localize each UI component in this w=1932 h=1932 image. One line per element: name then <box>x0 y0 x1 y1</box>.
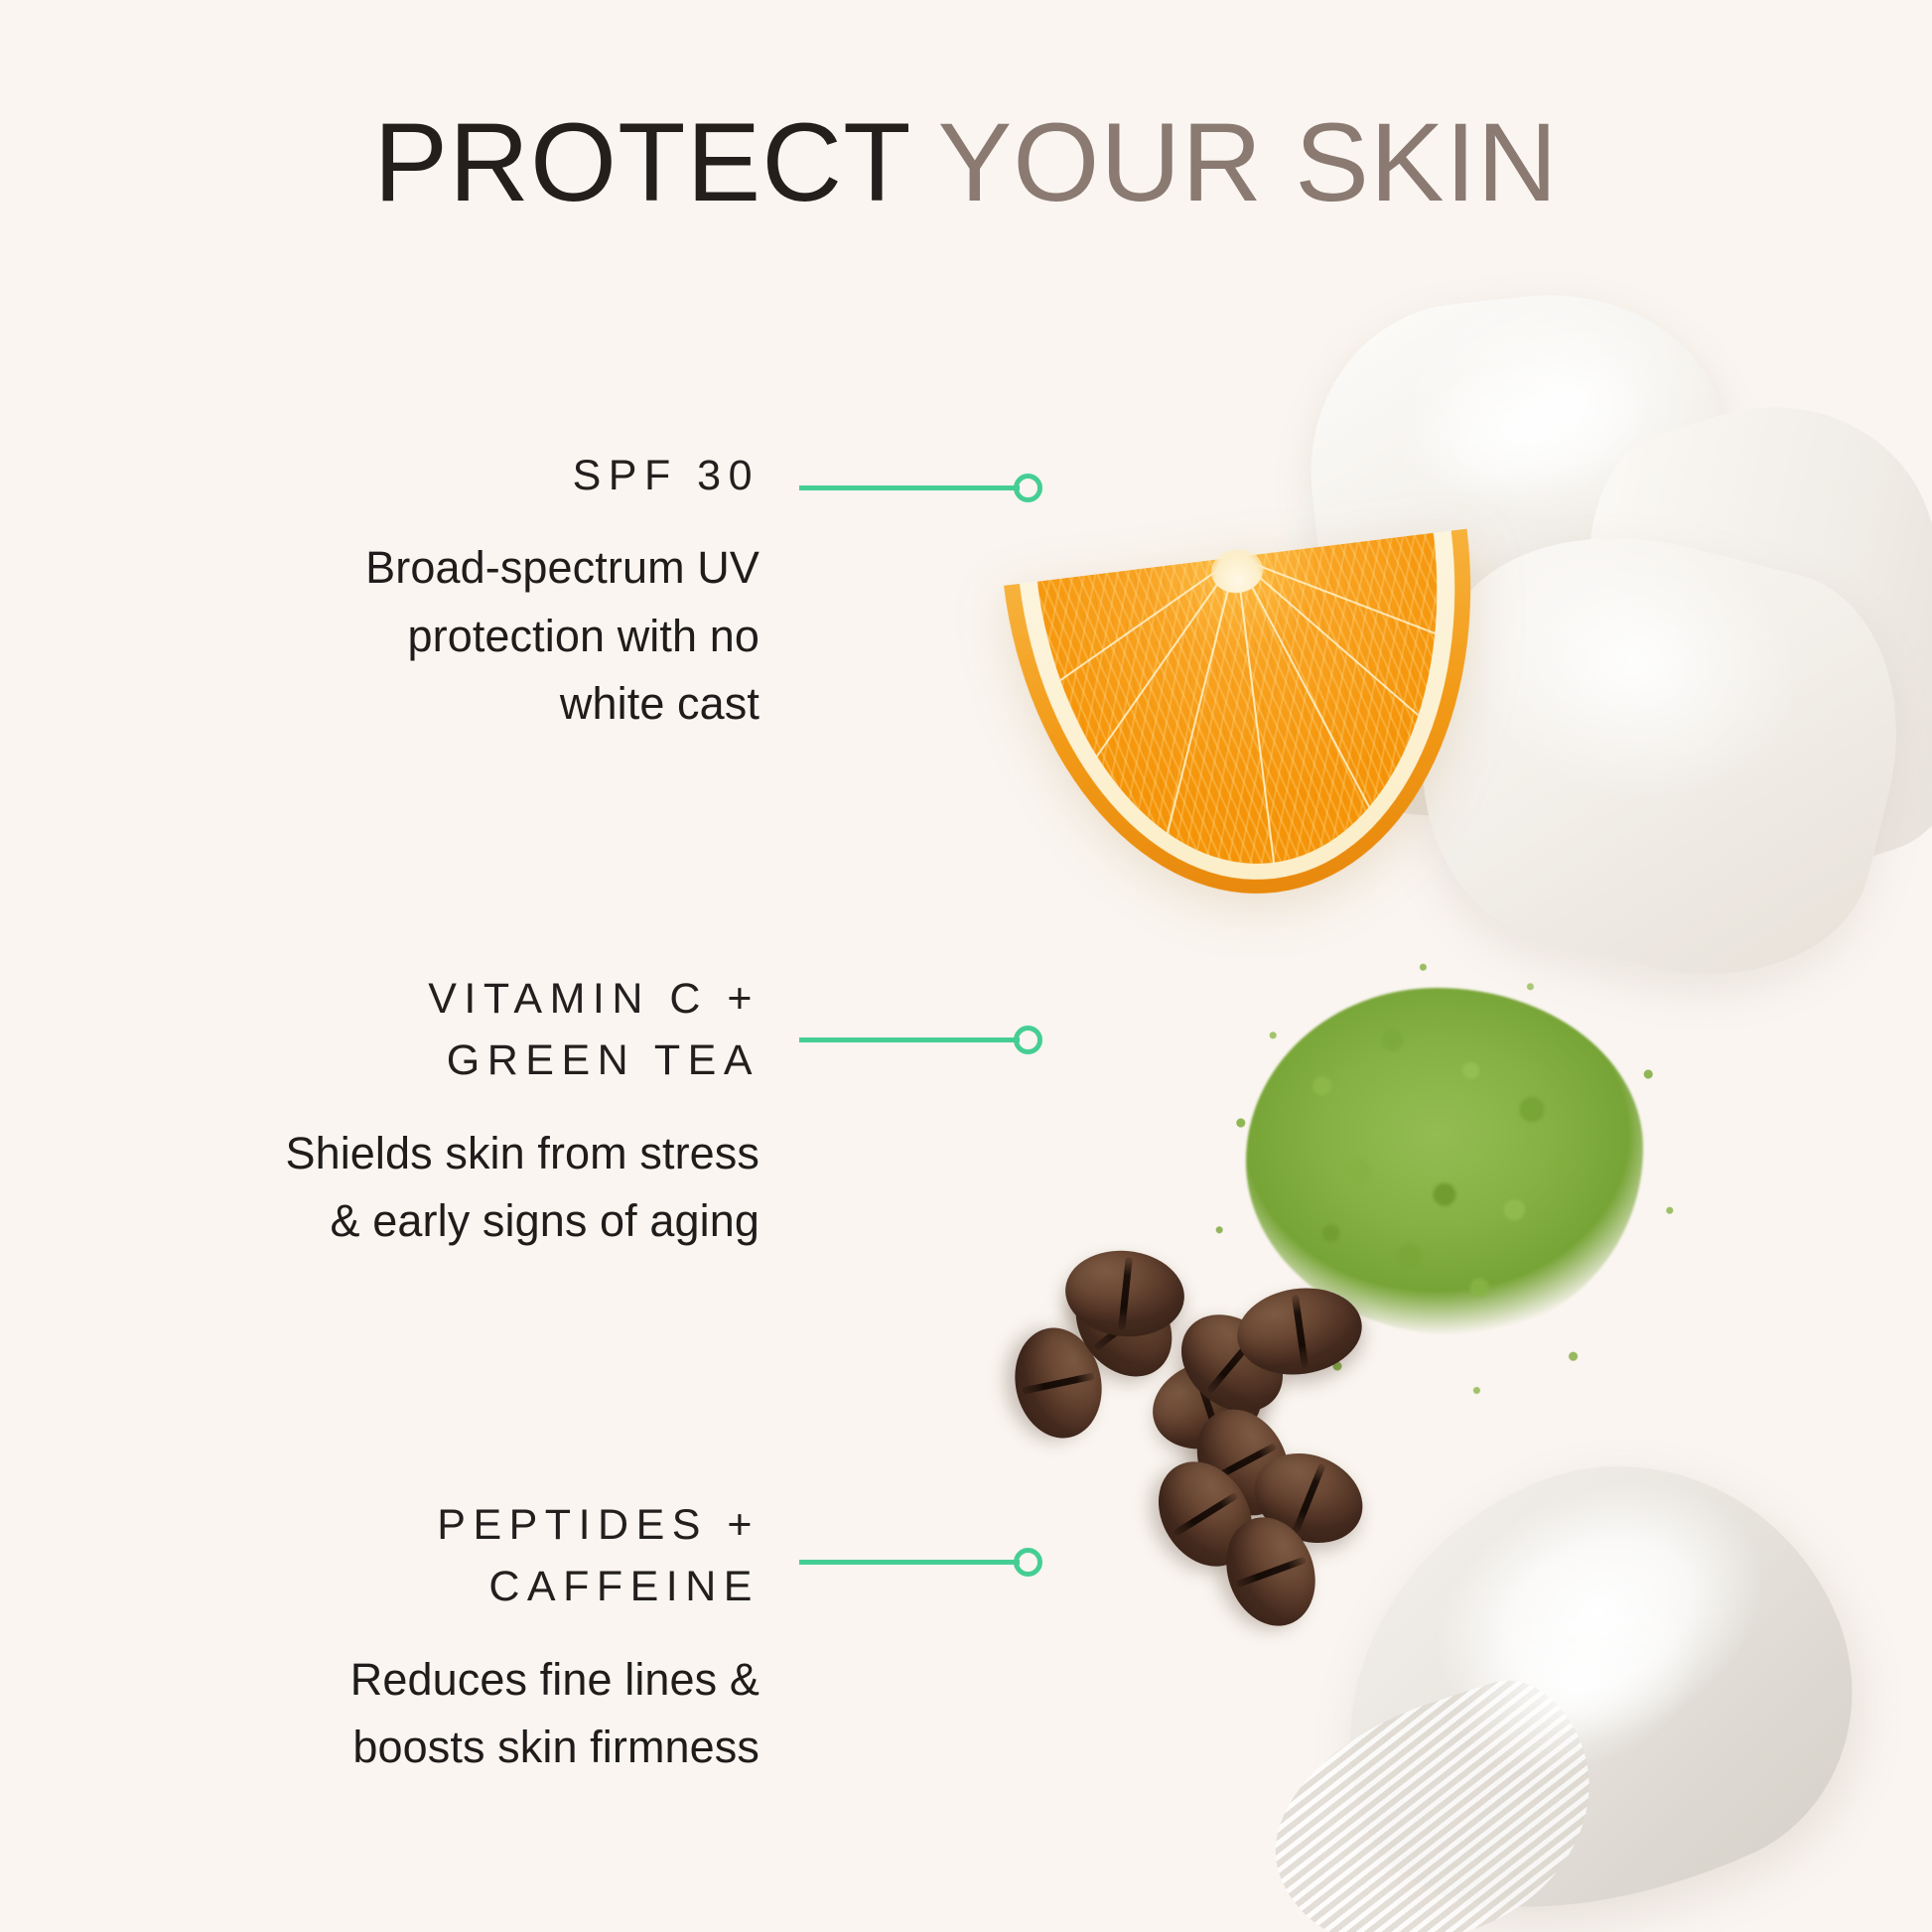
page-title: PROTECTYOUR SKIN <box>0 107 1932 218</box>
matcha-scatter <box>1176 928 1713 1415</box>
feature-heading-spf: SPF 30 <box>119 445 759 506</box>
coffee-bean <box>1005 1319 1111 1446</box>
feature-body-line: white cast <box>119 670 759 738</box>
cream-swatch-top <box>1276 298 1932 1092</box>
feature-heading-line: PEPTIDES + <box>119 1494 759 1556</box>
cream-highlight <box>1428 1556 1730 1809</box>
cream-swatch-bottom <box>1261 1479 1896 1932</box>
connector-line-peptides-caffeine <box>799 1547 1052 1577</box>
connector-dot-icon <box>1014 1548 1042 1577</box>
matcha-texture <box>1226 970 1663 1357</box>
orange-segment-divider <box>1236 556 1469 759</box>
orange-segment-divider <box>1235 557 1275 863</box>
coffee-bean <box>1061 1245 1188 1342</box>
feature-body-vitamin-c-green-tea: Shields skin from stress & early signs o… <box>119 1120 759 1256</box>
feature-heading-vitamin-c-green-tea: VITAMIN C + GREEN TEA <box>119 968 759 1092</box>
orange-segment-divider <box>1037 556 1237 734</box>
orange-pith <box>1020 531 1490 905</box>
orange-slice <box>1004 529 1508 921</box>
feature-body-line: Shields skin from stress <box>119 1120 759 1187</box>
page-title-primary: PROTECT <box>373 100 911 224</box>
orange-pulp-texture <box>1037 533 1471 888</box>
coffee-bean <box>1162 1295 1302 1432</box>
matcha-mound <box>1246 988 1643 1335</box>
orange-segment-divider <box>1235 557 1381 830</box>
coffee-bean <box>1179 1393 1308 1531</box>
connector-dot-icon <box>1014 474 1042 502</box>
orange-rind <box>1004 529 1508 921</box>
cream-highlight <box>1382 333 1666 532</box>
feature-heading-line: SPF 30 <box>573 452 759 499</box>
connector-line-spf <box>799 473 1052 502</box>
orange-flesh <box>1037 533 1471 888</box>
coffee-bean <box>1211 1505 1329 1639</box>
feature-heading-line: CAFFEINE <box>119 1556 759 1617</box>
page-title-secondary: YOUR SKIN <box>938 100 1559 224</box>
coffee-bean <box>1232 1281 1368 1383</box>
cream-teardrop <box>1266 1393 1911 1932</box>
coffee-bean <box>1141 1347 1273 1462</box>
connector-line-vitamin-c-green-tea <box>799 1025 1052 1054</box>
coffee-bean <box>1241 1438 1376 1559</box>
cream-lobe <box>1251 418 1598 833</box>
connector-line-segment <box>799 1037 1020 1042</box>
feature-body-spf: Broad-spectrum UV protection with no whi… <box>119 534 759 738</box>
cream-lobe <box>1540 363 1932 917</box>
coffee-bean <box>1056 1255 1192 1395</box>
feature-heading-line: GREEN TEA <box>119 1030 759 1091</box>
feature-body-line: & early signs of aging <box>119 1187 759 1255</box>
product-benefits-poster: PROTECTYOUR SKIN SPF 30 Broad-spectrum U… <box>0 0 1932 1932</box>
feature-body-line: Broad-spectrum UV <box>119 534 759 602</box>
feature-body-line: protection with no <box>119 603 759 670</box>
feature-block-vitamin-c-green-tea: VITAMIN C + GREEN TEA Shields skin from … <box>119 968 759 1255</box>
orange-core <box>1209 546 1266 596</box>
connector-dot-icon <box>1014 1026 1042 1054</box>
matcha-powder <box>1206 958 1683 1385</box>
feature-block-spf: SPF 30 Broad-spectrum UV protection with… <box>119 445 759 739</box>
connector-line-segment <box>799 485 1020 490</box>
cream-lobe <box>1295 277 1754 746</box>
orange-segment-divider <box>1059 557 1237 810</box>
feature-block-peptides-caffeine: PEPTIDES + CAFFEINE Reduces fine lines &… <box>119 1494 759 1781</box>
coffee-beans <box>1003 1261 1400 1658</box>
connector-line-segment <box>799 1560 1020 1565</box>
cream-comb-texture <box>1244 1663 1626 1932</box>
feature-body-line: boosts skin firmness <box>119 1714 759 1781</box>
cream-lobe <box>1381 495 1932 1013</box>
orange-segment-divider <box>1236 556 1471 668</box>
coffee-bean <box>1140 1445 1271 1585</box>
feature-heading-peptides-caffeine: PEPTIDES + CAFFEINE <box>119 1494 759 1618</box>
feature-heading-line: VITAMIN C + <box>119 968 759 1030</box>
feature-body-line: Reduces fine lines & <box>119 1646 759 1714</box>
orange-rind-texture <box>1022 531 1488 902</box>
feature-body-peptides-caffeine: Reduces fine lines & boosts skin firmnes… <box>119 1646 759 1782</box>
orange-segment-divider <box>1161 557 1237 856</box>
